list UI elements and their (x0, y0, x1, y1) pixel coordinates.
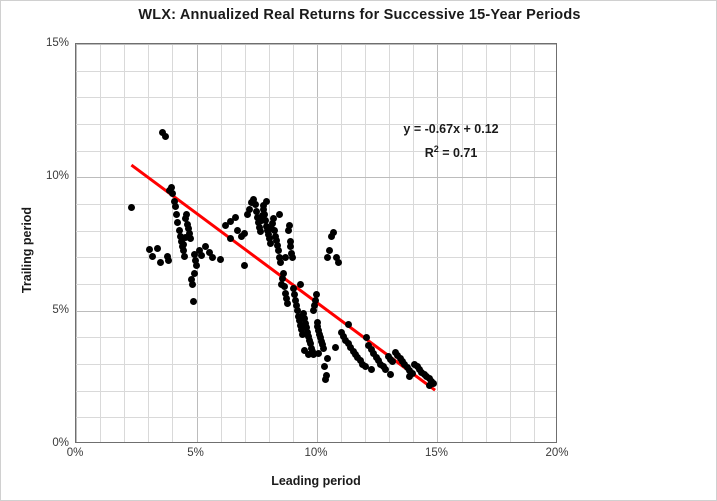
scatter-point (263, 198, 270, 205)
scatter-point (286, 222, 293, 229)
x-axis-tick-label: 0% (67, 447, 84, 459)
scatter-point (332, 344, 339, 351)
r-squared-prefix: R (425, 146, 434, 160)
scatter-point (297, 281, 304, 288)
scatter-point (387, 371, 394, 378)
plot-area (75, 43, 557, 443)
scatter-point (426, 382, 433, 389)
r-squared-value: = 0.71 (439, 146, 478, 160)
scatter-point (324, 254, 331, 261)
scatter-point (241, 262, 248, 269)
scatter-point (182, 234, 189, 241)
scatter-point (330, 229, 337, 236)
scatter-point (275, 247, 282, 254)
scatter-point (174, 219, 181, 226)
scatter-point (198, 252, 205, 259)
equation-text: y = -0.67x + 0.12 (351, 119, 551, 139)
x-axis-tick-label: 5% (187, 447, 204, 459)
x-axis-label: Leading period (75, 474, 557, 488)
trendline-annotation: y = -0.67x + 0.12 R2 = 0.71 (351, 119, 551, 163)
scatter-point (146, 246, 153, 253)
scatter-point (363, 334, 370, 341)
chart-title: WLX: Annualized Real Returns for Success… (1, 7, 717, 23)
scatter-point (217, 256, 224, 263)
scatter-point (257, 228, 264, 235)
scatter-point (284, 300, 291, 307)
r-squared-text: R2 = 0.71 (351, 139, 551, 163)
scatter-point (313, 291, 320, 298)
y-axis-label-wrapper: Trailing period (9, 43, 29, 443)
trendline (76, 44, 557, 443)
scatter-point (345, 321, 352, 328)
x-axis-tick-label: 10% (304, 447, 327, 459)
scatter-point (227, 235, 234, 242)
scatter-point (326, 247, 333, 254)
x-axis-tick-label: 20% (545, 447, 568, 459)
scatter-point (282, 254, 289, 261)
scatter-point (241, 230, 248, 237)
scatter-point (252, 201, 259, 208)
scatter-point (191, 270, 198, 277)
y-axis-label: Trailing period (20, 170, 34, 330)
x-axis-tick-label: 15% (425, 447, 448, 459)
scatter-point (315, 350, 322, 357)
scatter-point (280, 270, 287, 277)
scatter-point (232, 214, 239, 221)
chart-container: WLX: Annualized Real Returns for Success… (0, 0, 717, 501)
scatter-point (165, 257, 172, 264)
x-axis-ticks: 0%5%10%15%20% (75, 447, 557, 465)
scatter-point (173, 211, 180, 218)
